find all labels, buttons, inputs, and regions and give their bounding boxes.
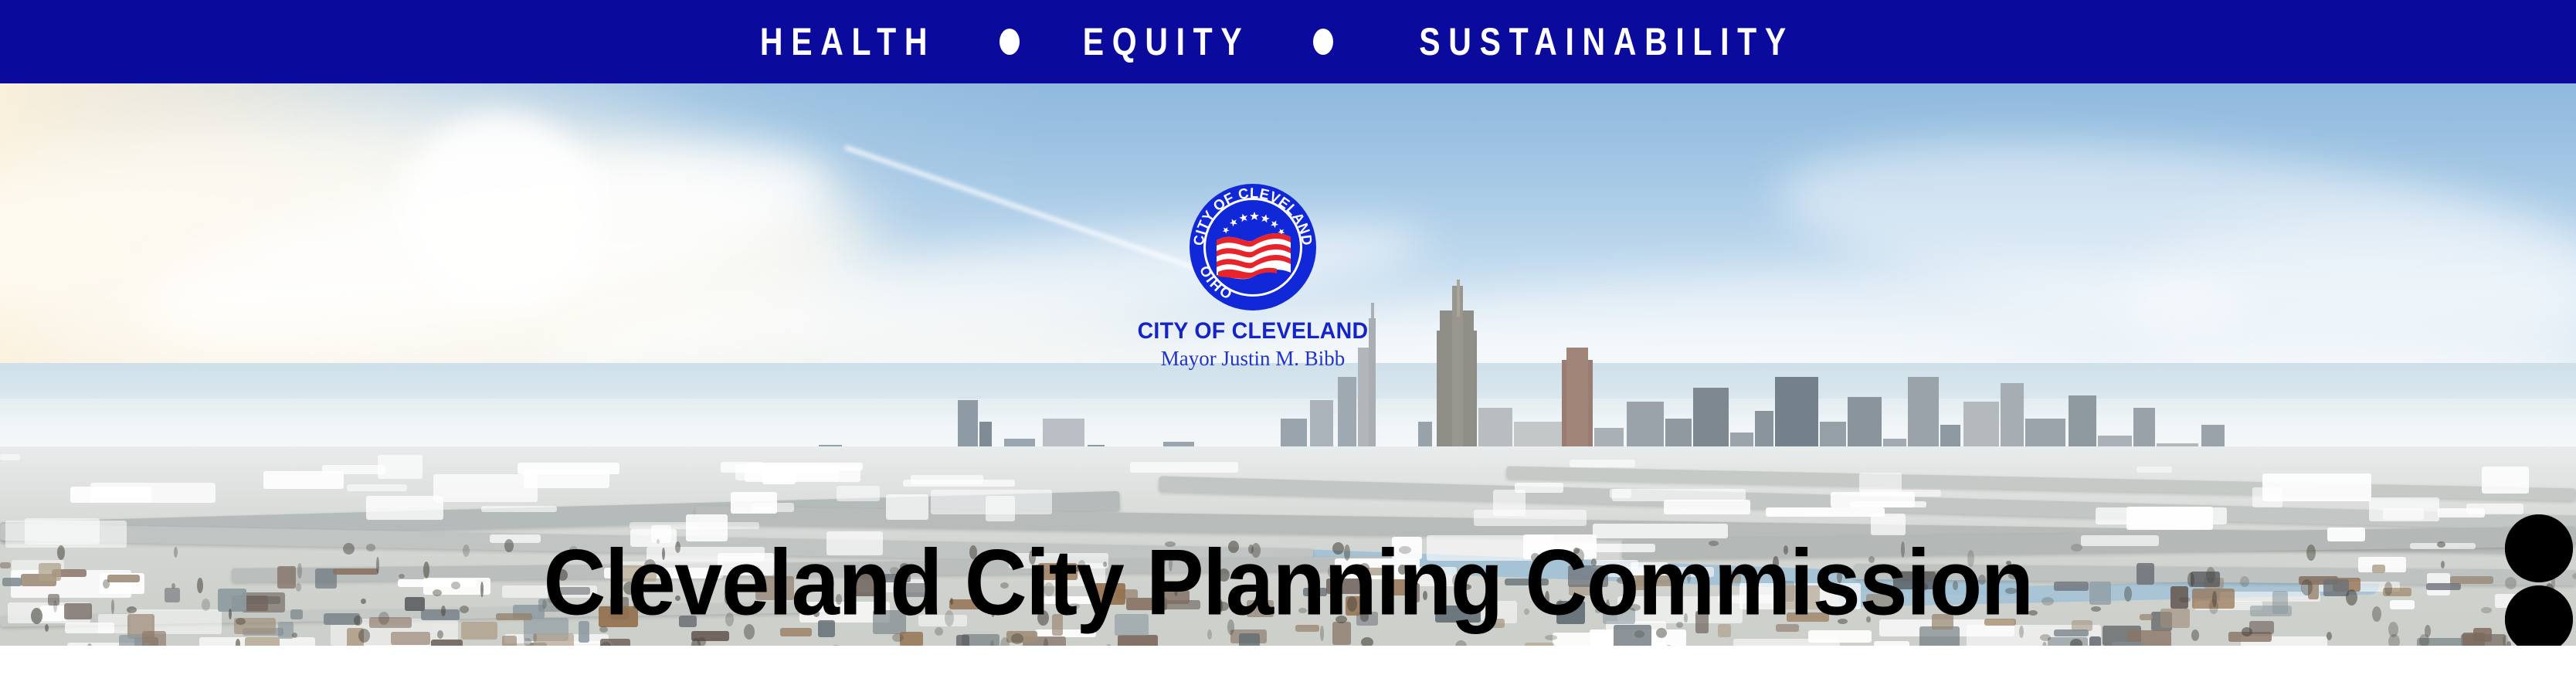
snow-patch [2466, 504, 2523, 514]
rooftop [391, 632, 430, 645]
rooftop [956, 635, 969, 646]
bare-tree [533, 633, 537, 642]
seal-waving-flag [1217, 233, 1291, 279]
rooftop [534, 633, 574, 646]
bare-tree [1545, 635, 1557, 640]
snow-patch [1130, 462, 1238, 473]
key-tower-spire [1457, 280, 1460, 317]
banner-separator-dot-2 [1313, 29, 1333, 55]
bare-tree [2327, 632, 2332, 640]
snow-patch [1766, 507, 1885, 517]
snow-patch [322, 465, 385, 474]
seal-inner-field [1206, 200, 1300, 294]
banner-word-equity: EQUITY [1083, 22, 1251, 61]
seal-flag-emblem [1206, 200, 1300, 294]
rooftop [119, 635, 144, 646]
seal-inner-disc [1203, 198, 1302, 297]
bare-tree [236, 639, 240, 646]
bare-tree [437, 630, 443, 639]
youtube-icon [2505, 514, 2573, 582]
social-link-instagram[interactable] [2505, 585, 2573, 646]
snow-patch [2482, 467, 2529, 494]
bare-tree [1455, 640, 1467, 646]
snow-patch [2369, 497, 2439, 521]
bare-tree [2070, 639, 2082, 646]
snow-patch [1831, 492, 1915, 507]
snow-patch [1474, 510, 1587, 526]
rooftop [2054, 629, 2089, 636]
banner-separator-dot-1 [1000, 29, 1020, 55]
social-media-links [2505, 514, 2573, 646]
city-branding-block: CITY OF CLEVELAND OHIO [1102, 184, 1403, 416]
rooftop [245, 637, 280, 646]
snow-patch [481, 506, 557, 512]
bare-tree [2388, 634, 2400, 646]
snow-patch [2136, 467, 2172, 473]
rooftop [431, 640, 463, 646]
snow-patch [1610, 489, 1631, 498]
rooftop [1118, 635, 1158, 646]
bare-tree [1361, 637, 1373, 646]
values-banner: HEALTH EQUITY SUSTAINABILITY [0, 0, 2576, 83]
snow-patch [837, 486, 880, 501]
snow-patch [366, 496, 443, 520]
snow-patch [735, 464, 839, 480]
snow-patch [886, 494, 928, 520]
bare-tree [524, 638, 531, 646]
snow-patch [931, 490, 1052, 514]
rooftop [2089, 636, 2101, 646]
snow-patch [433, 474, 538, 502]
snow-patch [90, 483, 216, 503]
seal-stars [1221, 212, 1286, 236]
values-banner-inner: HEALTH EQUITY SUSTAINABILITY [741, 22, 1835, 61]
snow-patch [751, 503, 794, 512]
bare-tree [2040, 634, 2051, 641]
banner-word-sustainability: SUSTAINABILITY [1419, 22, 1794, 61]
organization-name: CITY OF CLEVELAND [1110, 319, 1397, 344]
instagram-icon [2505, 585, 2573, 646]
bare-tree [2191, 629, 2199, 641]
city-of-cleveland-seal-icon: CITY OF CLEVELAND OHIO [1190, 184, 1316, 310]
rooftop [1239, 633, 1260, 646]
bare-tree [292, 633, 297, 638]
page-footer-whitespace [0, 646, 2576, 682]
snow-patch [347, 484, 407, 491]
page-title: Cleveland City Planning Commission [0, 536, 2576, 629]
page-root: HEALTH EQUITY SUSTAINABILITY [0, 0, 2576, 682]
social-link-youtube[interactable] [2505, 514, 2573, 582]
rooftop [142, 631, 166, 646]
mayor-name: Mayor Justin M. Bibb [1102, 348, 1403, 369]
bare-tree [358, 629, 370, 643]
bare-tree [1011, 633, 1023, 644]
snow-patch [903, 480, 1015, 487]
snow-patch [1570, 460, 1635, 467]
snow-patch [2096, 507, 2227, 524]
rooftop [2462, 633, 2485, 646]
snow-patch [1664, 500, 1750, 514]
banner-word-health: HEALTH [760, 22, 935, 61]
hero-photo: CITY OF CLEVELAND OHIO [0, 83, 2576, 646]
bare-tree [2419, 634, 2429, 646]
bare-tree [892, 633, 904, 642]
snow-patch [518, 463, 619, 474]
snow-patch [2262, 473, 2371, 501]
rooftop [502, 636, 517, 646]
snow-patch [0, 454, 20, 460]
